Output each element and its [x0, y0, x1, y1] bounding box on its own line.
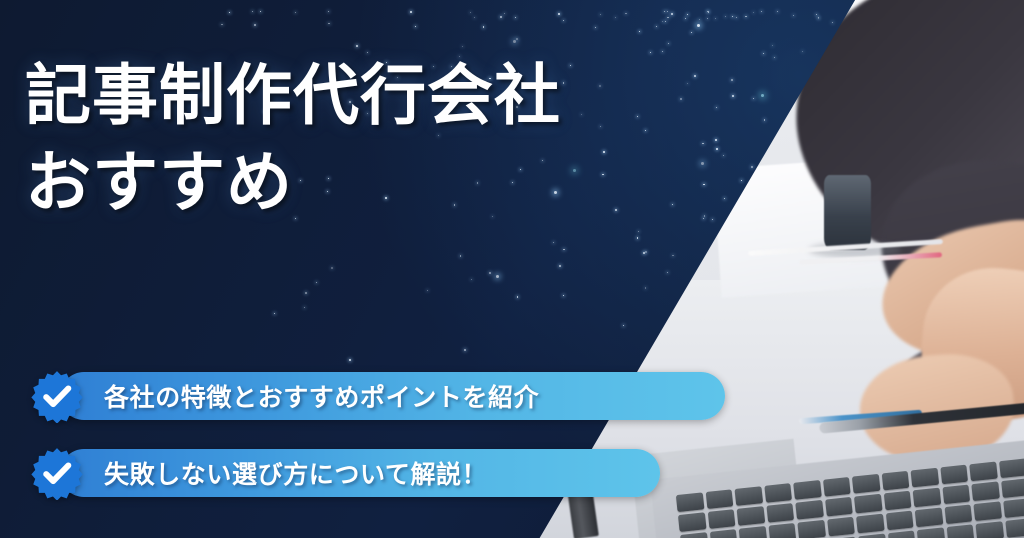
keyboard-key — [764, 483, 792, 503]
keyboard-key — [676, 492, 704, 512]
keyboard-key — [999, 458, 1024, 478]
keyboard-key — [766, 503, 794, 523]
keyboard-key — [737, 506, 765, 526]
keyboard-key — [883, 490, 911, 510]
hero-banner: 記事制作代行会社 おすすめ 各社の特徴とおすすめポイントを紹介 失敗し — [0, 0, 1024, 538]
keyboard-key — [827, 517, 855, 537]
keyboard-key — [888, 530, 916, 538]
keyboard-key — [1005, 518, 1024, 538]
bullet-list: 各社の特徴とおすすめポイントを紹介 失敗しない選び方について解説！ — [30, 372, 539, 526]
page-title: 記事制作代行会社 おすすめ — [25, 52, 561, 226]
keyboard-key — [707, 509, 735, 529]
list-item: 各社の特徴とおすすめポイントを紹介 — [30, 372, 539, 420]
keyboard-key — [856, 513, 884, 533]
keyboard-key — [944, 504, 972, 524]
keyboard-key — [976, 521, 1004, 538]
keyboard-key — [1001, 478, 1024, 498]
keyboard-key — [915, 507, 943, 527]
keyboard-key — [680, 532, 708, 538]
keyboard-key — [972, 481, 1000, 501]
check-badge-icon — [30, 446, 84, 500]
list-item: 失敗しない選び方について解説！ — [30, 449, 539, 497]
keyboard-key — [858, 533, 886, 538]
keyboard-key — [854, 494, 882, 514]
keyboard-key — [705, 489, 733, 509]
keyboard-key — [946, 524, 974, 538]
keyboard-key — [970, 461, 998, 481]
check-badge-icon — [30, 369, 84, 423]
headline-line-2: おすすめ — [25, 139, 561, 226]
keyboard-key — [709, 529, 737, 538]
keyboard-key — [913, 487, 941, 507]
keyboard-key — [911, 467, 939, 487]
bullet-label-2: 失敗しない選び方について解説！ — [104, 455, 487, 491]
keyboard-key — [823, 477, 851, 497]
keyboard-key — [825, 497, 853, 517]
keyboard-key — [881, 471, 909, 491]
keyboard-key — [1003, 498, 1024, 518]
keyboard-key — [795, 500, 823, 520]
dark-cup — [824, 175, 871, 250]
keyboard-key — [917, 527, 945, 538]
headline-line-1: 記事制作代行会社 — [25, 52, 561, 139]
keyboard-key — [734, 486, 762, 506]
keyboard-key — [942, 484, 970, 504]
keyboard-key — [852, 474, 880, 494]
keyboard-key — [940, 464, 968, 484]
keyboard-key — [974, 501, 1002, 521]
keyboard-key — [886, 510, 914, 530]
keyboard-key — [768, 523, 796, 538]
keyboard-key — [793, 480, 821, 500]
bullet-label-1: 各社の特徴とおすすめポイントを紹介 — [104, 378, 539, 414]
keyboard-key — [739, 526, 767, 538]
keyboard-key — [678, 512, 706, 532]
keyboard-key — [797, 520, 825, 538]
